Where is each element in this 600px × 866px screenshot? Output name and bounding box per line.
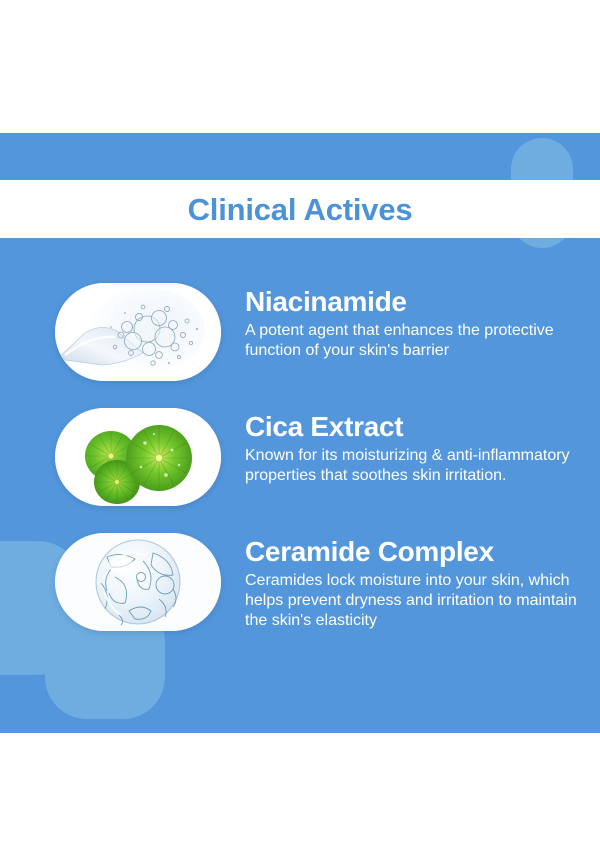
gel-sphere-image xyxy=(55,533,221,631)
feature-text: Cica Extract Known for its moisturizing … xyxy=(245,408,585,486)
ingredient-infographic: Clinical Actives xyxy=(0,0,600,866)
page-title: Clinical Actives xyxy=(188,194,413,225)
feature-row: Niacinamide A potent agent that enhances… xyxy=(55,283,585,381)
feature-title: Ceramide Complex xyxy=(245,537,585,567)
feature-row: Ceramide Complex Ceramides lock moisture… xyxy=(55,533,585,632)
centella-leaves-icon xyxy=(55,408,221,506)
feature-text: Niacinamide A potent agent that enhances… xyxy=(245,283,585,361)
gel-spatula-bubbles-image xyxy=(55,283,221,381)
centella-leaves-image xyxy=(55,408,221,506)
gel-sphere-icon xyxy=(55,533,221,631)
feature-text: Ceramide Complex Ceramides lock moisture… xyxy=(245,533,585,632)
feature-title: Niacinamide xyxy=(245,287,585,317)
feature-description: Known for its moisturizing & anti-inflam… xyxy=(245,446,585,487)
feature-row: Cica Extract Known for its moisturizing … xyxy=(55,408,585,506)
feature-title: Cica Extract xyxy=(245,412,585,442)
feature-description: Ceramides lock moisture into your skin, … xyxy=(245,571,585,632)
gel-spatula-bubbles-icon xyxy=(55,283,221,381)
title-banner: Clinical Actives xyxy=(0,180,600,238)
feature-description: A potent agent that enhances the protect… xyxy=(245,321,585,362)
blue-panel: Clinical Actives xyxy=(0,133,600,733)
